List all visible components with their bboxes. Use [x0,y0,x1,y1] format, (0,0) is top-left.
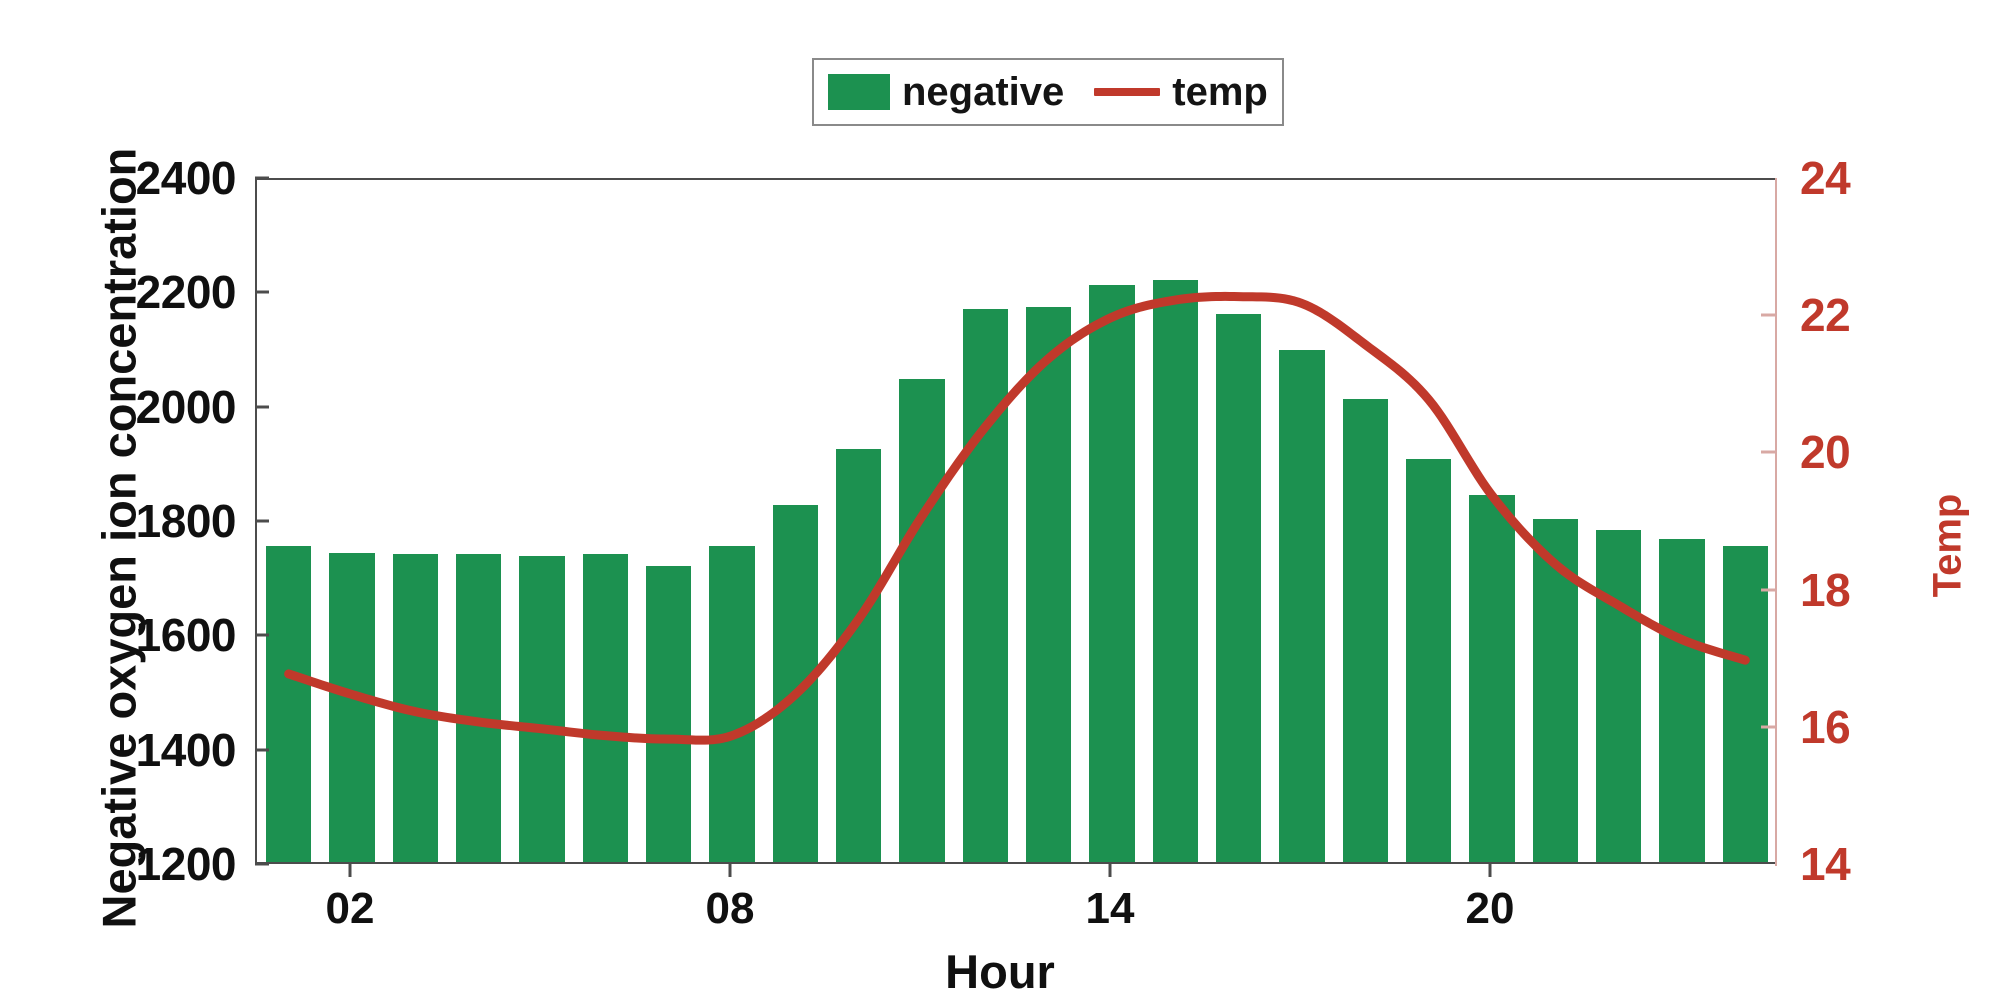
legend-item-temp[interactable]: temp [1094,72,1268,112]
y-axis-left-tick-mark [255,177,269,180]
y-axis-left-tick-mark [255,520,269,523]
x-axis-tick-mark [1109,864,1112,877]
y-axis-right-tick-label: 24 [1800,151,1850,205]
y-axis-left-tick-label: 2200 [136,265,236,319]
y-axis-right-tick-label: 14 [1800,837,1850,891]
y-axis-left-tick-label: 1600 [136,608,236,662]
x-axis-title: Hour [0,944,2000,999]
y-axis-left-tick-mark [255,748,269,751]
y-axis-left-tick-label: 1400 [136,723,236,777]
x-axis-tick-mark [1489,864,1492,877]
y-axis-right-tick-mark [1761,588,1775,591]
x-axis-tick-label: 02 [326,884,375,934]
x-axis-tick-label: 20 [1466,884,1515,934]
legend-item-negative[interactable]: negative [828,72,1064,112]
y-axis-left-tick-mark [255,405,269,408]
plot-area [255,178,1775,864]
y-axis-right-tick-label: 22 [1800,288,1850,342]
temp-polyline [289,296,1746,740]
y-axis-right-tick-mark [1761,451,1775,454]
y-axis-right-tick-label: 18 [1800,563,1850,617]
y-axis-left-title: Negative oxygen ion concentration [92,169,147,929]
x-axis-tick-label: 08 [706,884,755,934]
line-series-temp [257,180,1777,866]
y-axis-left-tick-mark [255,863,269,866]
y-axis-left-tick-mark [255,291,269,294]
y-axis-right-title: Temp [1926,426,1971,666]
x-axis-tick-mark [349,864,352,877]
y-axis-left-tick-mark [255,634,269,637]
y-axis-left-tick-label: 1200 [136,837,236,891]
y-axis-right-tick-mark [1761,314,1775,317]
y-axis-right-tick-label: 16 [1800,700,1850,754]
y-axis-right-tick-label: 20 [1800,425,1850,479]
legend-label-negative: negative [902,72,1064,112]
right-axis-spine [1775,178,1777,866]
x-axis-tick-mark [729,864,732,877]
chart-figure: negative temp 12001400160018002000220024… [0,0,2000,1000]
y-axis-right-tick-mark [1761,725,1775,728]
y-axis-left-tick-label: 2000 [136,380,236,434]
chart-legend: negative temp [812,58,1284,126]
y-axis-left-tick-label: 1800 [136,494,236,548]
y-axis-left-tick-label: 2400 [136,151,236,205]
x-axis-tick-label: 14 [1086,884,1135,934]
legend-label-temp: temp [1172,72,1268,112]
legend-bar-swatch-icon [828,74,890,110]
legend-line-swatch-icon [1094,88,1160,96]
